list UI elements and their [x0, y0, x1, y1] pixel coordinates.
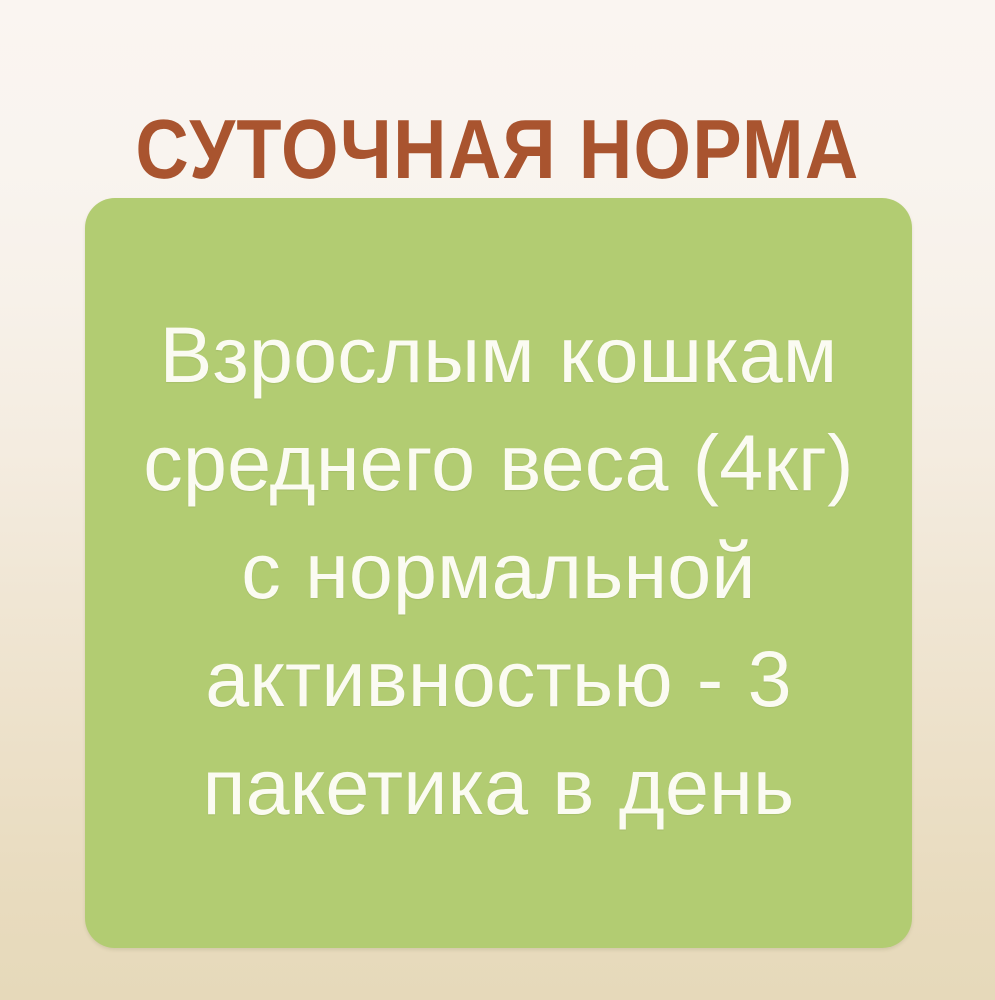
daily-norm-description: Взрослым кошкам среднего веса (4кг) с но… [113, 301, 884, 841]
daily-norm-card: Взрослым кошкам среднего веса (4кг) с но… [85, 198, 912, 948]
page-title: СУТОЧНАЯ НОРМА [60, 102, 936, 196]
daily-norm-poster: СУТОЧНАЯ НОРМА Взрослым кошкам среднего … [0, 0, 995, 1000]
